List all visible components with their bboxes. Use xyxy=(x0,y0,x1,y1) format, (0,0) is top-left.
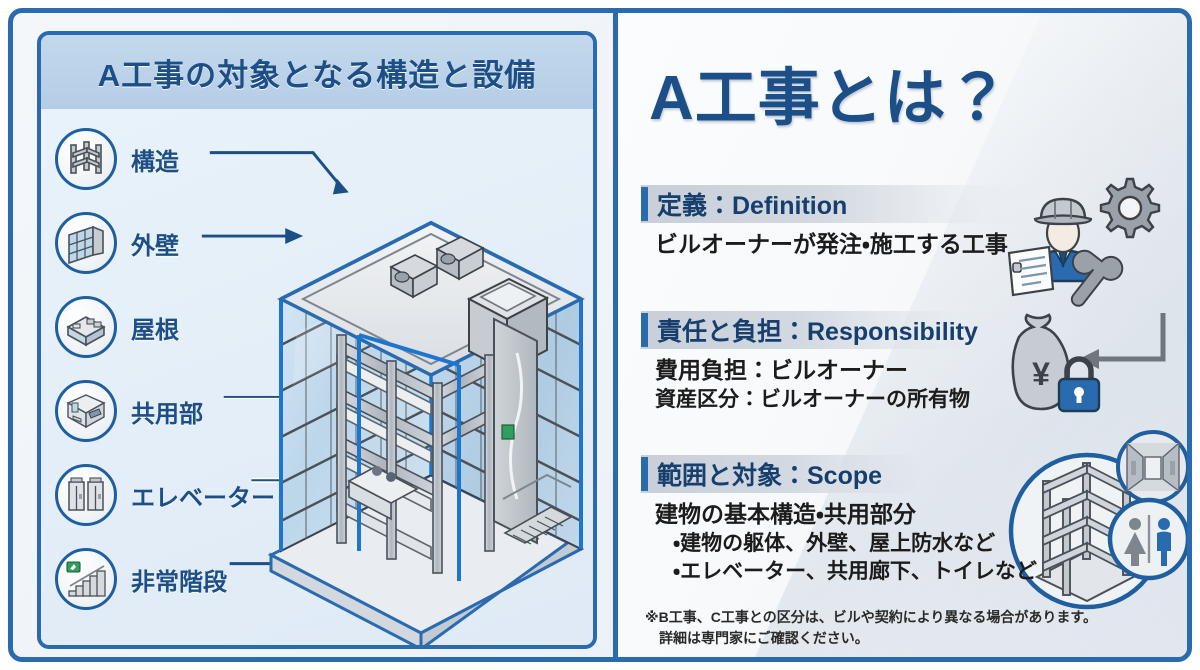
list-item[interactable]: 非常階段 xyxy=(55,537,295,621)
body-line: 費用負担：ビルオーナー xyxy=(655,355,1041,386)
emergency-stairs-icon xyxy=(55,548,117,610)
section-definition: 定義：Definition ビルオーナーが発注・施工する工事 xyxy=(641,185,1041,260)
section-header: 責任と負担：Responsibility xyxy=(641,311,1001,349)
list-item-label: 屋根 xyxy=(131,310,179,345)
rooftop-icon xyxy=(55,296,117,358)
section-header: 範囲と対象：Scope xyxy=(641,455,971,493)
list-item-label: 非常階段 xyxy=(131,562,227,597)
list-item[interactable]: 外壁 xyxy=(55,201,295,285)
elevator-icon xyxy=(55,464,117,526)
section-scope: 範囲と対象：Scope 建物の基本構造・共用部分 ・建物の躯体、外壁、屋上防水な… xyxy=(641,455,1041,587)
gear-icon xyxy=(1101,179,1159,237)
section-header-label: 責任と負担：Responsibility xyxy=(657,312,978,348)
lounge-icon xyxy=(55,380,117,442)
section-header: 定義：Definition xyxy=(641,185,1041,223)
body-line: 建物の基本構造・共用部分 xyxy=(655,499,1041,530)
section-body: 費用負担：ビルオーナー 資産区分：ビルオーナーの所有物 xyxy=(641,349,1041,414)
list-item-label: エレベーター xyxy=(131,478,275,513)
footnote-line: 詳細は専門家にご確認ください。 xyxy=(645,628,1097,649)
curtain-wall-icon xyxy=(55,212,117,274)
list-item[interactable]: 構造 xyxy=(55,117,295,201)
restroom-icon xyxy=(1110,500,1188,578)
list-item[interactable]: 共用部 xyxy=(55,369,295,453)
list-item[interactable]: エレベーター xyxy=(55,453,295,537)
page-title: A工事とは？ xyxy=(649,47,1010,137)
body-line: ビルオーナーが発注・施工する工事 xyxy=(655,229,1041,260)
arrow-left-icon xyxy=(1079,313,1163,369)
list-item[interactable]: 屋根 xyxy=(55,285,295,369)
corridor-icon xyxy=(1118,432,1188,502)
component-list: 構造 xyxy=(55,117,295,621)
section-responsibility: 責任と負担：Responsibility 費用負担：ビルオーナー 資産区分：ビル… xyxy=(641,311,1041,414)
panel-divider xyxy=(613,13,618,662)
footnote-line: ※B工事、C工事との区分は、ビルや契約により異なる場合があります。 xyxy=(645,607,1097,628)
list-item-label: 構造 xyxy=(131,142,179,177)
left-panel-title: A工事の対象となる構造と設備 xyxy=(98,50,536,95)
body-line: 資産区分：ビルオーナーの所有物 xyxy=(655,386,1041,414)
padlock-icon xyxy=(1059,359,1099,411)
list-item-label: 外壁 xyxy=(131,226,179,261)
section-body: ビルオーナーが発注・施工する工事 xyxy=(641,223,1041,260)
left-panel-body: 構造 xyxy=(41,109,593,645)
right-panel: A工事とは？ 定義：Definition ビルオーナーが発注・施工する工事 責任… xyxy=(613,13,1192,662)
outer-frame: A工事の対象となる構造と設備 xyxy=(8,8,1192,662)
infographic-root: A工事の対象となる構造と設備 xyxy=(0,0,1200,670)
footnote: ※B工事、C工事との区分は、ビルや契約により異なる場合があります。 詳細は専門家… xyxy=(645,607,1097,649)
steel-frame-icon xyxy=(55,128,117,190)
section-header-label: 範囲と対象：Scope xyxy=(657,456,882,492)
section-body: 建物の基本構造・共用部分 ・建物の躯体、外壁、屋上防水など ・エレベーター、共用… xyxy=(641,493,1041,587)
section-header-label: 定義：Definition xyxy=(657,186,847,222)
bullet-line: ・エレベーター、共用廊下、トイレなど xyxy=(655,558,1041,586)
bullet-line: ・建物の躯体、外壁、屋上防水など xyxy=(655,530,1041,558)
service-core xyxy=(494,319,537,543)
left-panel-header: A工事の対象となる構造と設備 xyxy=(41,35,593,109)
list-item-label: 共用部 xyxy=(131,394,203,429)
left-panel: A工事の対象となる構造と設備 xyxy=(37,31,597,649)
